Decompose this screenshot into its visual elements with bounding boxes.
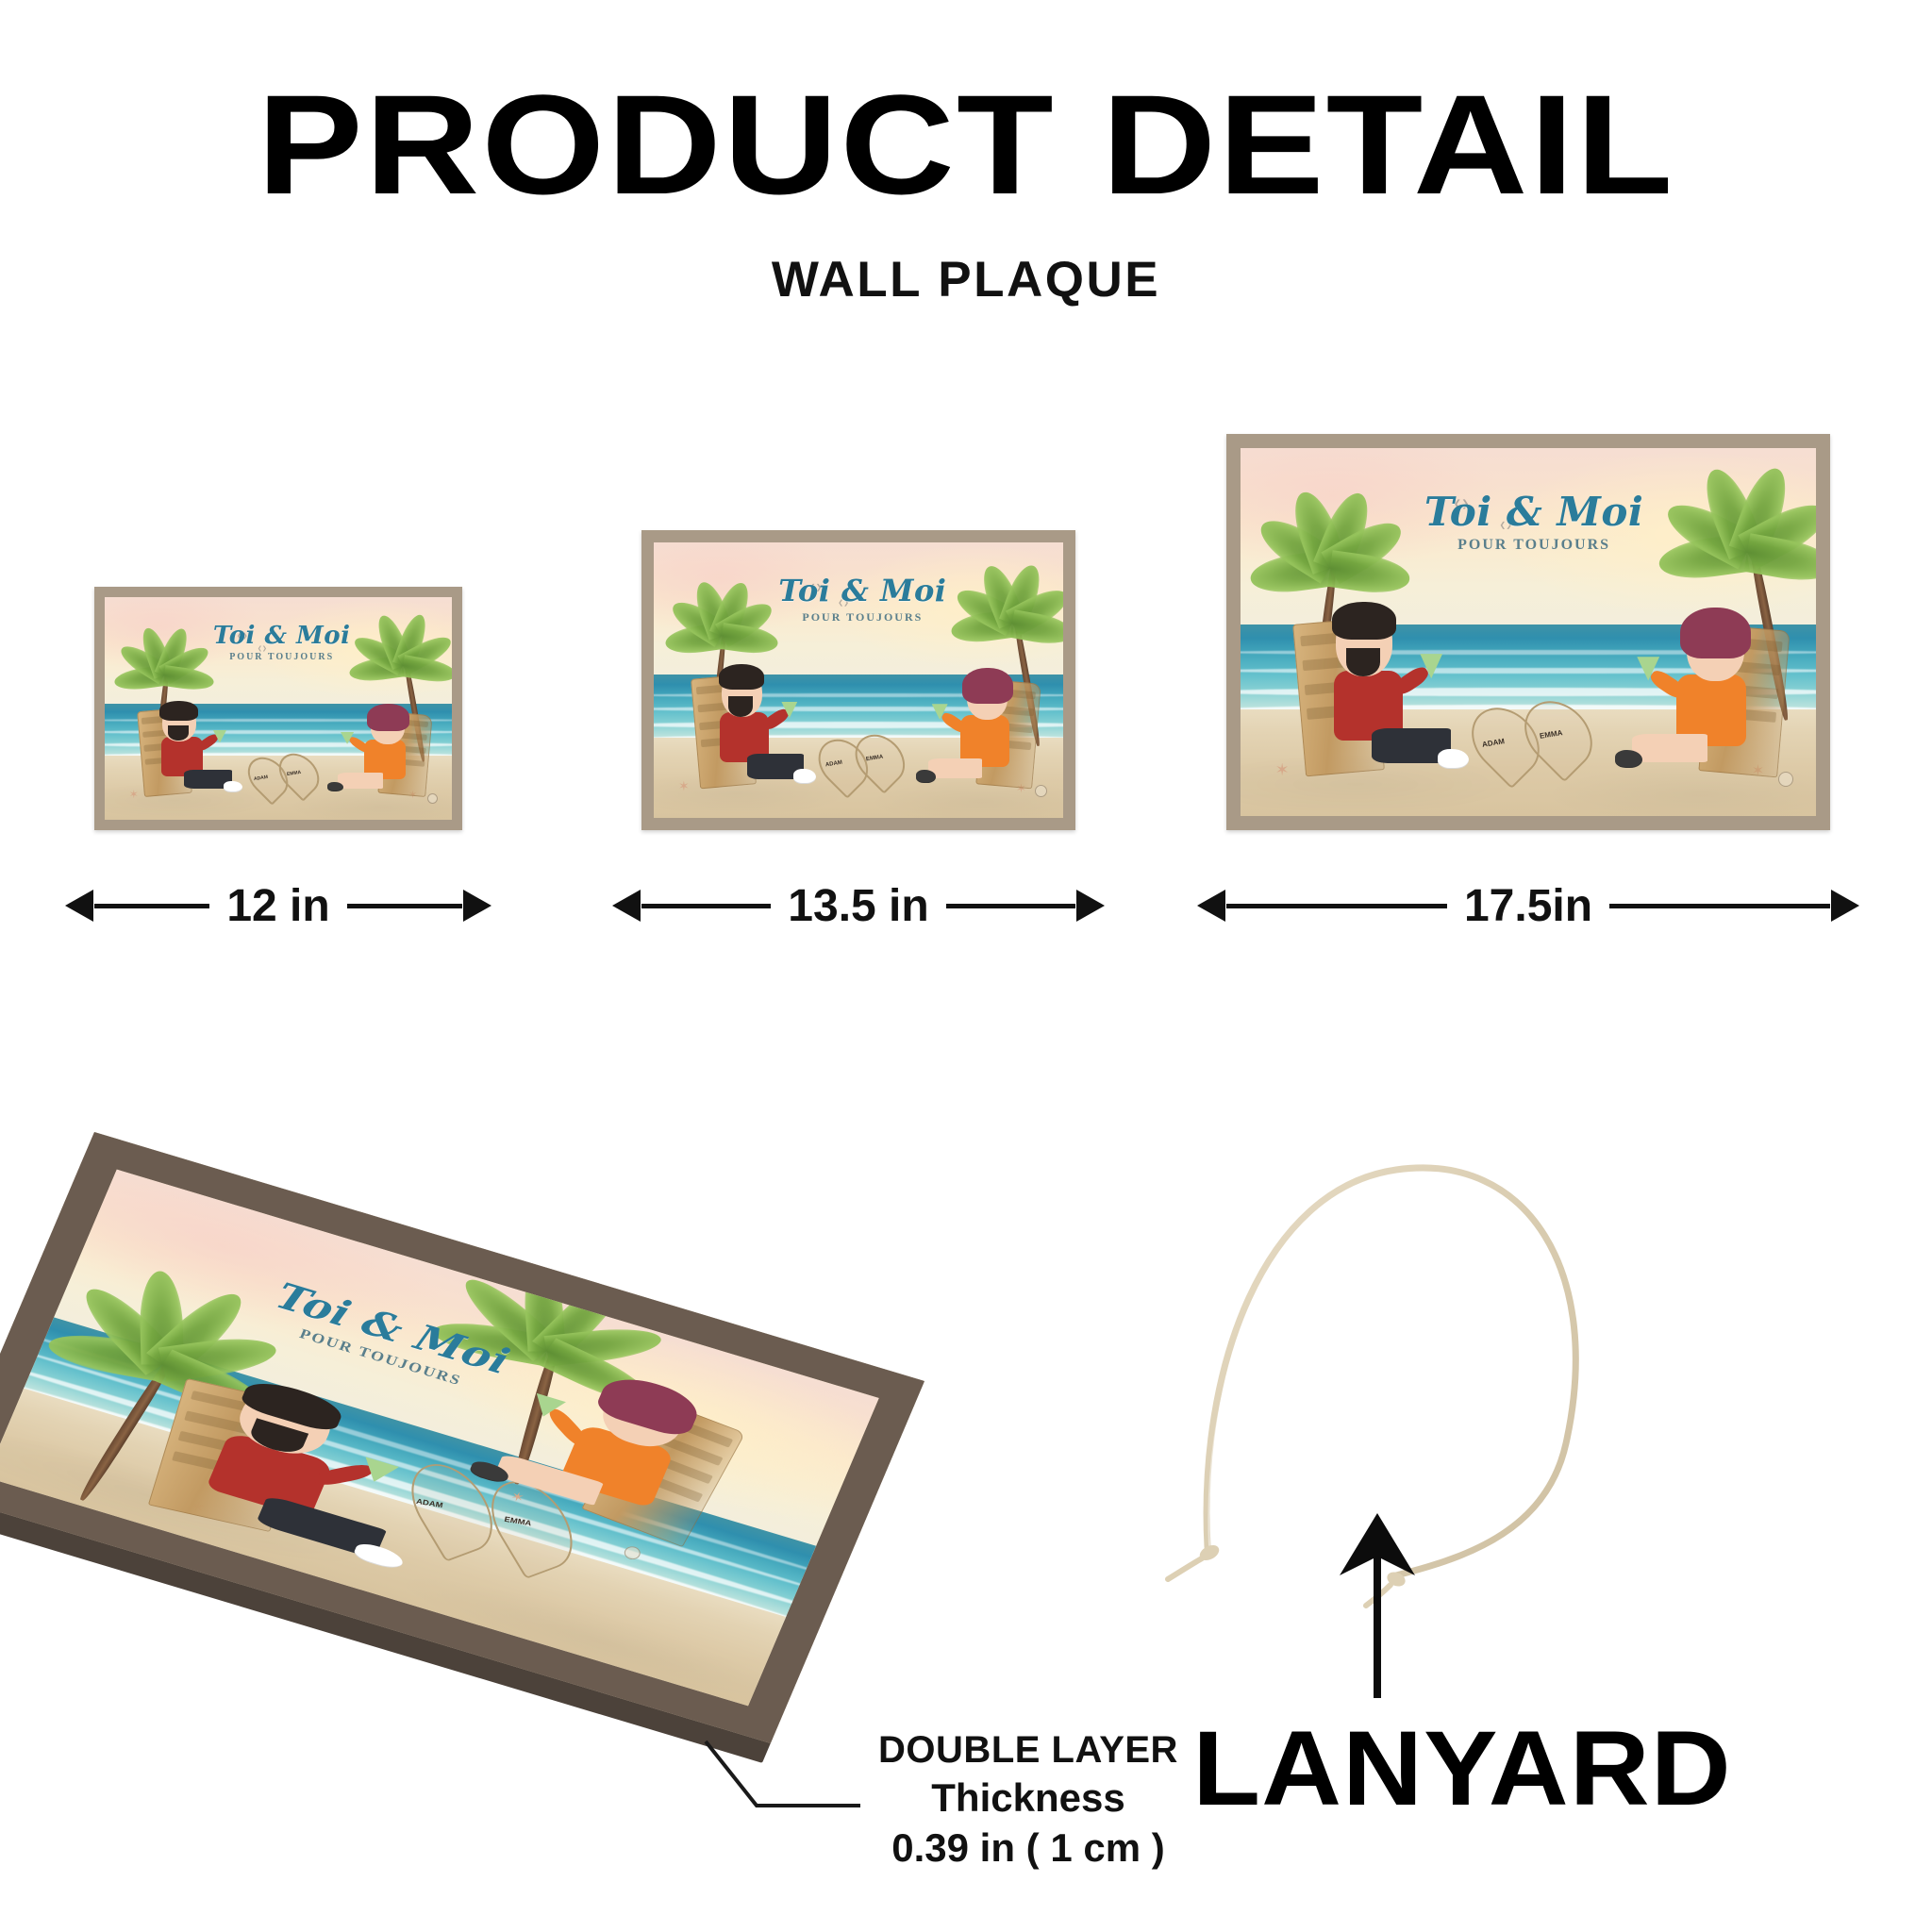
character-woman [916, 658, 1039, 802]
angled-plaque-view[interactable]: Toi & Moi POUR TOUJOURS [57, 1113, 1057, 1679]
plaque-title-group: Toi & Moi POUR TOUJOURS [202, 622, 361, 662]
plaque-title-script: Toi & Moi [769, 573, 958, 608]
arrow-right-icon [1609, 904, 1830, 908]
plaque-title-script: Toi & Moi [1402, 489, 1667, 535]
plaque-title-subtitle: POUR TOUJOURS [202, 652, 361, 662]
page-subtitle: WALL PLAQUE [0, 251, 1932, 308]
plaque-title-subtitle: POUR TOUJOURS [769, 610, 958, 625]
lanyard-arrow-icon [1321, 1509, 1434, 1698]
starfish-icon: ✶ [678, 779, 690, 792]
dimension-label: 13.5 in [782, 880, 934, 932]
dimension-large: 17.5in [1226, 877, 1830, 934]
dimension-label: 17.5in [1458, 880, 1598, 932]
character-man [691, 653, 813, 802]
character-woman [327, 695, 431, 807]
arrow-left-icon [641, 904, 771, 908]
plaque-title-subtitle: POUR TOUJOURS [1402, 537, 1667, 554]
plaque-preview-medium[interactable]: ❮❯ ❮❯ Toi & Moi POUR TOUJOURS [641, 530, 1075, 830]
character-woman [1615, 595, 1788, 794]
arrow-left-icon [94, 904, 209, 908]
lanyard-label: LANYARD [1145, 1707, 1779, 1829]
plaque-size-row: ❮❯ ❮❯ Toi & Moi POUR TOUJOURS [0, 434, 1932, 830]
starfish-icon: ✶ [1275, 761, 1290, 778]
sand-hearts: ADAM EMMA [243, 753, 334, 802]
dimension-medium: 13.5 in [641, 877, 1075, 934]
lanyard-group: LANYARD [1160, 1132, 1689, 1849]
arrow-left-icon [1226, 904, 1447, 908]
plaque-title-script: Toi & Moi [202, 622, 361, 650]
plaque-preview-large[interactable]: ❮❯ ❮❯ Toi & Moi POUR TOUJOURS [1226, 434, 1830, 830]
page-title: PRODUCT DETAIL [0, 74, 1932, 215]
dimension-label: 12 in [221, 880, 335, 932]
header: PRODUCT DETAIL WALL PLAQUE [0, 0, 1932, 308]
character-man [136, 691, 240, 807]
dimension-small: 12 in [94, 877, 462, 934]
arrow-right-icon [347, 904, 462, 908]
character-man [1292, 588, 1465, 793]
arrow-right-icon [946, 904, 1075, 908]
plaque-preview-small[interactable]: ❮❯ ❮❯ Toi & Moi POUR TOUJOURS [94, 587, 462, 830]
